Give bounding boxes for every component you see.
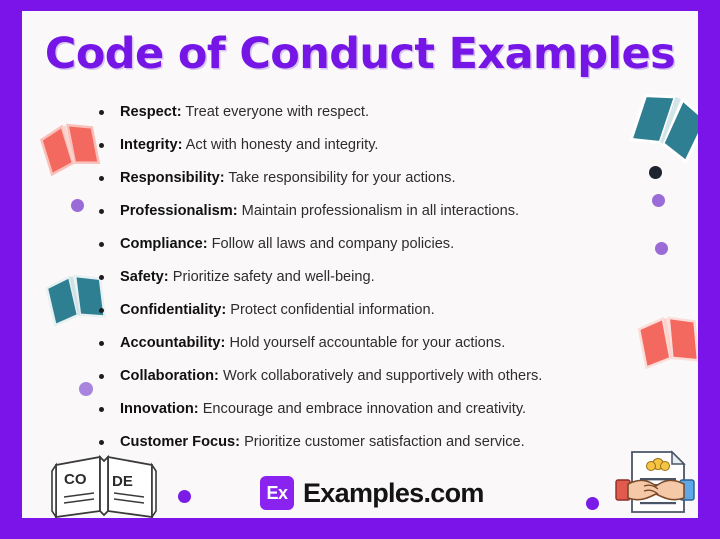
list-item-term: Innovation: (120, 401, 199, 417)
list-item-term: Safety: (120, 269, 169, 285)
list-item-desc: Hold yourself accountable for your actio… (225, 335, 505, 351)
list-item: Integrity: Act with honesty and integrit… (98, 129, 658, 162)
bullet-icon (99, 407, 104, 412)
poster-card: Code of Conduct Examples (22, 11, 698, 518)
list-item-term: Professionalism: (120, 203, 238, 219)
list-item: Collaboration: Work collaboratively and … (98, 360, 658, 393)
code-book-icon: CO DE (50, 451, 158, 518)
code-book-right-text: DE (112, 473, 133, 490)
decorative-dot-5 (178, 490, 191, 503)
list-item-desc: Follow all laws and company policies. (208, 236, 455, 252)
list-item-desc: Prioritize customer satisfaction and ser… (240, 434, 525, 450)
list-item-desc: Treat everyone with respect. (182, 104, 369, 120)
list-item-term: Confidentiality: (120, 302, 226, 318)
list-item-term: Responsibility: (120, 170, 225, 186)
list-item-term: Compliance: (120, 236, 208, 252)
list-item: Customer Focus: Prioritize customer sati… (98, 426, 658, 459)
examples-logo[interactable]: Ex Examples.com (260, 476, 484, 510)
bullet-icon (99, 242, 104, 247)
bullet-icon (99, 275, 104, 280)
list-item-desc: Maintain professionalism in all interact… (238, 203, 519, 219)
list-item-term: Respect: (120, 104, 182, 120)
list-item: Accountability: Hold yourself accountabl… (98, 327, 658, 360)
decorative-dot-2 (79, 382, 93, 396)
bullet-icon (99, 341, 104, 346)
bullet-icon (99, 143, 104, 148)
decorative-dot-1 (71, 199, 84, 212)
agreement-handshake-icon (614, 448, 696, 518)
list-item: Compliance: Follow all laws and company … (98, 228, 658, 261)
list-item: Safety: Prioritize safety and well-being… (98, 261, 658, 294)
bullet-icon (99, 374, 104, 379)
examples-logo-mark: Ex (260, 476, 294, 510)
list-item-term: Integrity: (120, 137, 182, 153)
code-of-conduct-list: Respect: Treat everyone with respect. In… (98, 96, 658, 459)
list-item-desc: Encourage and embrace innovation and cre… (199, 401, 526, 417)
bullet-icon (99, 176, 104, 181)
list-item-desc: Work collaboratively and supportively wi… (219, 368, 542, 384)
list-item-term: Customer Focus: (120, 434, 240, 450)
list-item: Responsibility: Take responsibility for … (98, 162, 658, 195)
list-item-desc: Take responsibility for your actions. (225, 170, 456, 186)
bullet-icon (99, 209, 104, 214)
list-item: Respect: Treat everyone with respect. (98, 96, 658, 129)
page-title: Code of Conduct Examples (22, 29, 698, 79)
decorative-dot-6 (586, 497, 599, 510)
list-item-term: Accountability: (120, 335, 225, 351)
list-item-desc: Prioritize safety and well-being. (169, 269, 375, 285)
list-item-term: Collaboration: (120, 368, 219, 384)
code-book-left-text: CO (64, 471, 87, 488)
decorative-book-salmon-upper-left (40, 119, 102, 180)
list-item-desc: Act with honesty and integrity. (182, 137, 378, 153)
bullet-icon (99, 440, 104, 445)
list-item: Professionalism: Maintain professionalis… (98, 195, 658, 228)
examples-logo-text: Examples.com (303, 478, 484, 509)
list-item-desc: Protect confidential information. (226, 302, 434, 318)
bullet-icon (99, 110, 104, 115)
poster-canvas: Code of Conduct Examples (0, 0, 720, 539)
bullet-icon (99, 308, 104, 313)
list-item: Confidentiality: Protect confidential in… (98, 294, 658, 327)
list-item: Innovation: Encourage and embrace innova… (98, 393, 658, 426)
